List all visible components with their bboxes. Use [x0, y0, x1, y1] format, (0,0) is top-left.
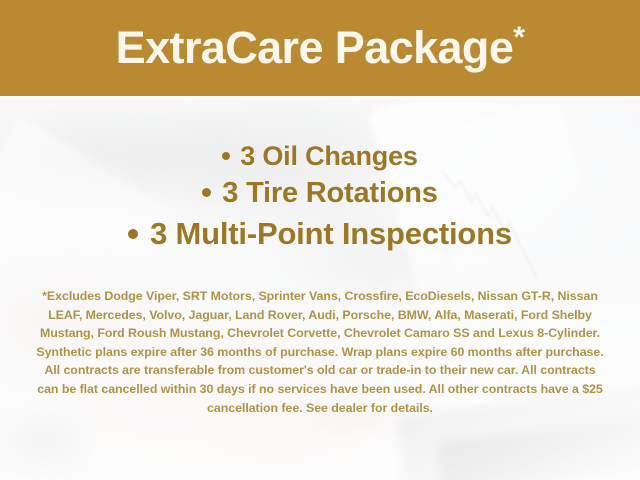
list-item: 3 Tire Rotations	[0, 174, 640, 213]
bullet-dot-icon	[222, 152, 230, 160]
benefits-list: 3 Oil Changes 3 Tire Rotations 3 Multi-P…	[0, 138, 640, 255]
list-item: 3 Oil Changes	[0, 138, 640, 174]
list-item-label: 3 Tire Rotations	[222, 177, 437, 209]
page-title: ExtraCare Package*	[116, 23, 525, 70]
disclaimer-text: *Excludes Dodge Viper, SRT Motors, Sprin…	[34, 287, 606, 417]
list-item-label: 3 Multi-Point Inspections	[150, 216, 512, 251]
bullet-dot-icon	[128, 229, 138, 239]
bullet-dot-icon	[202, 188, 211, 197]
extracare-package-banner: ExtraCare Package* 3 Oil Changes 3 Tire …	[0, 0, 640, 480]
banner-seam	[0, 96, 640, 101]
header-banner: ExtraCare Package*	[0, 0, 640, 96]
page-title-asterisk: *	[513, 21, 524, 54]
list-item-label: 3 Oil Changes	[240, 141, 417, 171]
page-title-text: ExtraCare Package	[116, 22, 514, 73]
list-item: 3 Multi-Point Inspections	[0, 213, 640, 255]
dark-corner-shape	[0, 410, 90, 480]
